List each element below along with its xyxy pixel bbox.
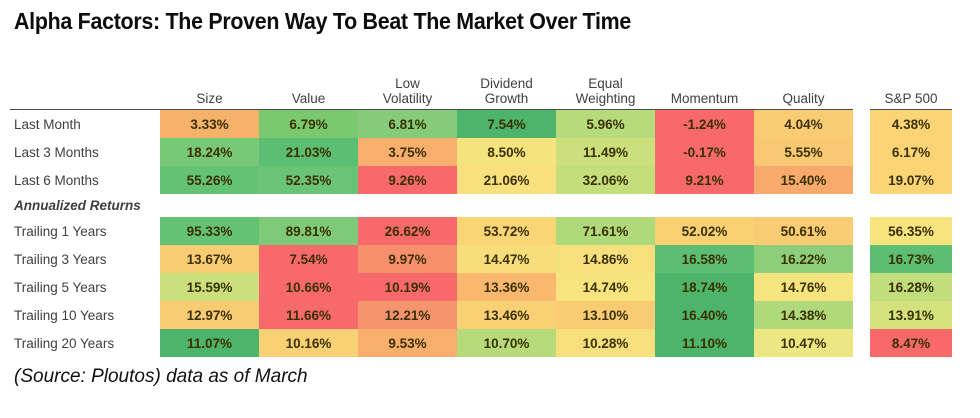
- data-cell: 5.96%: [556, 110, 655, 139]
- data-cell: 14.38%: [754, 301, 853, 329]
- row-gap-cell: [853, 138, 870, 166]
- data-cell: 13.10%: [556, 301, 655, 329]
- data-cell: 11.66%: [259, 301, 358, 329]
- row-gap-cell: [853, 329, 870, 357]
- row-gap-cell: [853, 273, 870, 301]
- benchmark-cell: 19.07%: [870, 166, 952, 194]
- data-cell: 14.74%: [556, 273, 655, 301]
- data-cell: 11.10%: [655, 329, 754, 357]
- section-empty-cell: [358, 194, 457, 217]
- data-cell: 6.81%: [358, 110, 457, 139]
- row-label: Last 3 Months: [10, 138, 160, 166]
- data-cell: 10.66%: [259, 273, 358, 301]
- table-row: Trailing 1 Years95.33%89.81%26.62%53.72%…: [10, 217, 952, 245]
- data-cell: 15.40%: [754, 166, 853, 194]
- column-header-quality: Quality: [754, 62, 853, 110]
- row-gap-cell: [853, 110, 870, 139]
- source-note: (Source: Ploutos) data as of March: [14, 366, 308, 388]
- data-cell: 26.62%: [358, 217, 457, 245]
- data-cell: 89.81%: [259, 217, 358, 245]
- row-label: Last Month: [10, 110, 160, 139]
- section-empty-cell: [655, 194, 754, 217]
- table-section-row: Annualized Returns: [10, 194, 952, 217]
- row-label: Last 6 Months: [10, 166, 160, 194]
- data-cell: 55.26%: [160, 166, 259, 194]
- data-cell: 8.50%: [457, 138, 556, 166]
- table-row: Trailing 20 Years11.07%10.16%9.53%10.70%…: [10, 329, 952, 357]
- benchmark-cell: 13.91%: [870, 301, 952, 329]
- data-cell: 3.33%: [160, 110, 259, 139]
- row-gap-cell: [853, 217, 870, 245]
- row-label: Trailing 20 Years: [10, 329, 160, 357]
- row-gap-cell: [853, 166, 870, 194]
- benchmark-cell: 16.73%: [870, 245, 952, 273]
- data-cell: 14.76%: [754, 273, 853, 301]
- column-header-value: Value: [259, 62, 358, 110]
- data-cell: 21.06%: [457, 166, 556, 194]
- section-empty-cell: [870, 194, 952, 217]
- data-cell: 95.33%: [160, 217, 259, 245]
- table-row: Last 6 Months55.26%52.35%9.26%21.06%32.0…: [10, 166, 952, 194]
- data-cell: 16.40%: [655, 301, 754, 329]
- table-row: Last Month3.33%6.79%6.81%7.54%5.96%-1.24…: [10, 110, 952, 139]
- data-cell: 15.59%: [160, 273, 259, 301]
- data-cell: 52.02%: [655, 217, 754, 245]
- data-cell: 13.46%: [457, 301, 556, 329]
- table-row: Trailing 3 Years13.67%7.54%9.97%14.47%14…: [10, 245, 952, 273]
- column-header-momentum: Momentum: [655, 62, 754, 110]
- data-cell: 32.06%: [556, 166, 655, 194]
- section-empty-cell: [853, 194, 870, 217]
- row-label: Trailing 1 Years: [10, 217, 160, 245]
- data-cell: 9.53%: [358, 329, 457, 357]
- table-header-row: Size ValueLowVolatilityDividendGrowthEqu…: [10, 62, 952, 110]
- data-cell: 11.07%: [160, 329, 259, 357]
- table-header: Size ValueLowVolatilityDividendGrowthEqu…: [10, 62, 952, 110]
- table-row: Trailing 10 Years12.97%11.66%12.21%13.46…: [10, 301, 952, 329]
- section-empty-cell: [457, 194, 556, 217]
- data-cell: 13.67%: [160, 245, 259, 273]
- section-label: Annualized Returns: [10, 194, 160, 217]
- benchmark-cell: 6.17%: [870, 138, 952, 166]
- column-header-equal-weighting: EqualWeighting: [556, 62, 655, 110]
- data-cell: 9.26%: [358, 166, 457, 194]
- data-cell: 4.04%: [754, 110, 853, 139]
- data-cell: 10.28%: [556, 329, 655, 357]
- column-header-dividend-growth: DividendGrowth: [457, 62, 556, 110]
- data-cell: 10.70%: [457, 329, 556, 357]
- data-cell: 21.03%: [259, 138, 358, 166]
- data-cell: 3.75%: [358, 138, 457, 166]
- column-header-size: Size: [160, 62, 259, 110]
- data-cell: 52.35%: [259, 166, 358, 194]
- table-corner-cell: [10, 62, 160, 110]
- data-cell: 14.86%: [556, 245, 655, 273]
- data-cell: 18.74%: [655, 273, 754, 301]
- page-title: Alpha Factors: The Proven Way To Beat Th…: [14, 8, 631, 35]
- data-cell: 53.72%: [457, 217, 556, 245]
- benchmark-cell: 4.38%: [870, 110, 952, 139]
- alpha-factors-table-container: Size ValueLowVolatilityDividendGrowthEqu…: [10, 62, 954, 357]
- data-cell: 13.36%: [457, 273, 556, 301]
- data-cell: 12.97%: [160, 301, 259, 329]
- section-empty-cell: [754, 194, 853, 217]
- table-row: Last 3 Months18.24%21.03%3.75%8.50%11.49…: [10, 138, 952, 166]
- data-cell: 9.97%: [358, 245, 457, 273]
- data-cell: 7.54%: [457, 110, 556, 139]
- row-gap-cell: [853, 301, 870, 329]
- data-cell: 12.21%: [358, 301, 457, 329]
- data-cell: 50.61%: [754, 217, 853, 245]
- data-cell: 18.24%: [160, 138, 259, 166]
- benchmark-cell: 8.47%: [870, 329, 952, 357]
- data-cell: 9.21%: [655, 166, 754, 194]
- chart-page: Alpha Factors: The Proven Way To Beat Th…: [0, 0, 980, 418]
- column-header-low-volatility: LowVolatility: [358, 62, 457, 110]
- data-cell: 6.79%: [259, 110, 358, 139]
- header-gap: [853, 62, 870, 110]
- data-cell: 11.49%: [556, 138, 655, 166]
- row-label: Trailing 3 Years: [10, 245, 160, 273]
- table-body: Last Month3.33%6.79%6.81%7.54%5.96%-1.24…: [10, 110, 952, 358]
- alpha-factors-table: Size ValueLowVolatilityDividendGrowthEqu…: [10, 62, 952, 357]
- benchmark-cell: 16.28%: [870, 273, 952, 301]
- data-cell: -1.24%: [655, 110, 754, 139]
- data-cell: 16.58%: [655, 245, 754, 273]
- data-cell: 10.16%: [259, 329, 358, 357]
- data-cell: 16.22%: [754, 245, 853, 273]
- data-cell: 10.19%: [358, 273, 457, 301]
- table-row: Trailing 5 Years15.59%10.66%10.19%13.36%…: [10, 273, 952, 301]
- data-cell: 71.61%: [556, 217, 655, 245]
- data-cell: 14.47%: [457, 245, 556, 273]
- row-gap-cell: [853, 245, 870, 273]
- data-cell: 5.55%: [754, 138, 853, 166]
- section-empty-cell: [160, 194, 259, 217]
- column-header-sp-500: S&P 500: [870, 62, 952, 110]
- data-cell: -0.17%: [655, 138, 754, 166]
- row-label: Trailing 5 Years: [10, 273, 160, 301]
- section-empty-cell: [259, 194, 358, 217]
- data-cell: 10.47%: [754, 329, 853, 357]
- data-cell: 7.54%: [259, 245, 358, 273]
- benchmark-cell: 56.35%: [870, 217, 952, 245]
- row-label: Trailing 10 Years: [10, 301, 160, 329]
- section-empty-cell: [556, 194, 655, 217]
